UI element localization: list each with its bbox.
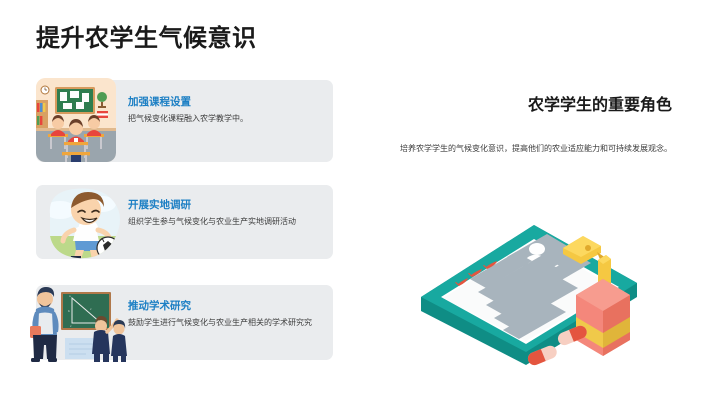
card-heading: 开展实地调研 [128, 199, 321, 212]
card-heading: 加强课程设置 [128, 96, 321, 109]
card-text-block: 开展实地调研 组织学生参与气候变化与农业生产实地调研活动 [128, 199, 321, 228]
right-section-description: 培养农学学生的气候变化意识，提高他们的农业适应能力和可持续发展观念。 [390, 142, 672, 157]
slide-root: 提升农学生气候意识 加强课程设置 把气候变化课程融入农学教学中。 [0, 0, 720, 405]
teacher-blackboard-illustration: a b c c [28, 282, 128, 364]
classroom-students-illustration [36, 78, 116, 162]
card-description: 把气候变化课程融入农学教学中。 [128, 113, 321, 125]
card-description: 组织学生参与气候变化与农业生产实地调研活动 [128, 216, 321, 228]
card-description: 鼓励学生进行气候变化与农业生产相关的学术研究究 [128, 317, 321, 329]
page-title: 提升农学生气候意识 [36, 26, 257, 52]
card-heading: 推动学术研究 [128, 300, 321, 313]
svg-text:b: b [68, 309, 70, 313]
isometric-clipboard-medicine-bottle-illustration [408, 205, 688, 390]
boy-with-soccer-ball-illustration [40, 184, 126, 262]
card-text-block: 推动学术研究 鼓励学生进行气候变化与农业生产相关的学术研究究 [128, 300, 321, 329]
card-text-block: 加强课程设置 把气候变化课程融入农学教学中。 [128, 96, 321, 125]
right-section-heading: 农学学生的重要角色 [352, 96, 672, 115]
